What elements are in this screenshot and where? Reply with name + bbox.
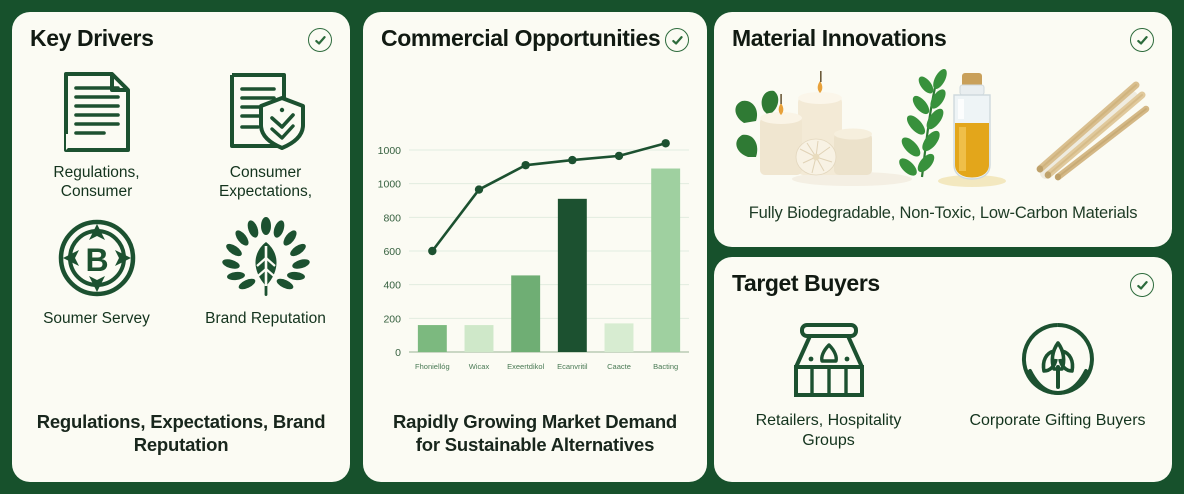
target-buyer-label: Corporate Gifting Buyers xyxy=(969,411,1145,431)
chart-bar xyxy=(465,325,494,352)
y-axis-tick-label: 600 xyxy=(383,246,401,258)
y-axis-tick-label: 200 xyxy=(383,313,401,325)
target-buyers-grid: Retailers, Hospitality Groups Corporate … xyxy=(714,319,1172,451)
key-driver-label: Brand Reputation xyxy=(205,310,326,329)
check-circle-icon[interactable] xyxy=(308,28,332,52)
leaf-wreath-icon xyxy=(223,212,309,304)
commercial-caption: Rapidly Growing Market Demand for Sustai… xyxy=(363,410,707,456)
chart-canvas: 020040060080010001000FhoniellógWicaxExee… xyxy=(363,68,707,408)
trend-point xyxy=(661,139,669,147)
market-demand-chart: 020040060080010001000FhoniellógWicaxExee… xyxy=(363,68,707,408)
check-circle-icon[interactable] xyxy=(1130,273,1154,297)
card-header: Target Buyers xyxy=(714,257,1172,297)
key-driver-item[interactable]: Consumer Expectations, xyxy=(181,66,350,202)
target-buyer-label: Retailers, Hospitality Groups xyxy=(739,411,919,451)
key-driver-item[interactable]: B Soumer Servey xyxy=(12,212,181,329)
key-drivers-grid: Regulations, Consumer Consumer Expectati… xyxy=(12,66,350,329)
key-drivers-caption: Regulations, Expectations, Brand Reputat… xyxy=(12,410,350,456)
card-header: Key Drivers xyxy=(12,12,350,52)
page-title: Material Innovations xyxy=(732,26,946,51)
trend-point xyxy=(615,152,623,160)
x-axis-tick-label: Wicax xyxy=(469,362,490,371)
card-material-innovations: Material Innovations xyxy=(714,12,1172,247)
chart-bar xyxy=(558,199,587,352)
chart-bar xyxy=(605,323,634,352)
card-target-buyers: Target Buyers Retai xyxy=(714,257,1172,482)
x-axis-tick-label: Exeertdikol xyxy=(507,362,544,371)
y-axis-tick-label: 800 xyxy=(383,212,401,224)
target-buyer-item[interactable]: Corporate Gifting Buyers xyxy=(943,319,1172,451)
y-axis-tick-label: 0 xyxy=(395,347,401,359)
x-axis-tick-label: Caacte xyxy=(607,362,631,371)
card-header: Material Innovations xyxy=(714,12,1172,52)
storefront-icon xyxy=(786,319,872,401)
key-driver-label: Consumer Expectations, xyxy=(191,164,341,202)
trend-point xyxy=(568,156,576,164)
trend-point xyxy=(521,161,529,169)
candles-and-soap-photo xyxy=(730,61,878,194)
x-axis-tick-label: Bacting xyxy=(653,362,678,371)
material-caption: Fully Biodegradable, Non-Toxic, Low-Carb… xyxy=(714,204,1172,223)
check-circle-icon[interactable] xyxy=(665,28,689,52)
key-driver-label: Regulations, Consumer xyxy=(22,164,172,202)
material-photo-strip xyxy=(730,64,1156,194)
card-header: Commercial Opportunities xyxy=(363,12,707,52)
check-circle-icon[interactable] xyxy=(1130,28,1154,52)
page-title: Target Buyers xyxy=(732,271,880,296)
x-axis-tick-label: Ecanvritil xyxy=(557,362,588,371)
bamboo-reed-sticks-photo xyxy=(1024,61,1156,194)
trend-line xyxy=(432,143,665,251)
plant-in-circle-icon xyxy=(1018,319,1098,401)
key-driver-item[interactable]: Brand Reputation xyxy=(181,212,350,329)
document-shield-check-icon xyxy=(224,66,308,158)
trend-point xyxy=(428,247,436,255)
svg-text:B: B xyxy=(85,242,108,278)
key-driver-item[interactable]: Regulations, Consumer xyxy=(12,66,181,202)
document-lines-icon xyxy=(60,66,134,158)
b-corp-badge-icon: B xyxy=(55,212,139,304)
card-commercial-opportunities: Commercial Opportunities 020040060080010… xyxy=(363,12,707,482)
infographic-canvas: Key Drivers Regulations, Consumer xyxy=(0,0,1184,494)
x-axis-tick-label: Fhoniellóg xyxy=(415,362,450,371)
page-title: Key Drivers xyxy=(30,26,153,51)
key-driver-label: Soumer Servey xyxy=(43,310,150,329)
essential-oil-bottle-with-herb-photo xyxy=(886,61,1016,194)
y-axis-tick-label: 1000 xyxy=(378,179,402,191)
page-title: Commercial Opportunities xyxy=(381,26,660,51)
chart-bar xyxy=(511,275,540,352)
y-axis-tick-label: 400 xyxy=(383,280,401,292)
chart-bar xyxy=(651,169,680,352)
trend-point xyxy=(475,185,483,193)
card-key-drivers: Key Drivers Regulations, Consumer xyxy=(12,12,350,482)
y-axis-tick-label: 1000 xyxy=(378,145,402,157)
chart-bar xyxy=(418,325,447,352)
target-buyer-item[interactable]: Retailers, Hospitality Groups xyxy=(714,319,943,451)
